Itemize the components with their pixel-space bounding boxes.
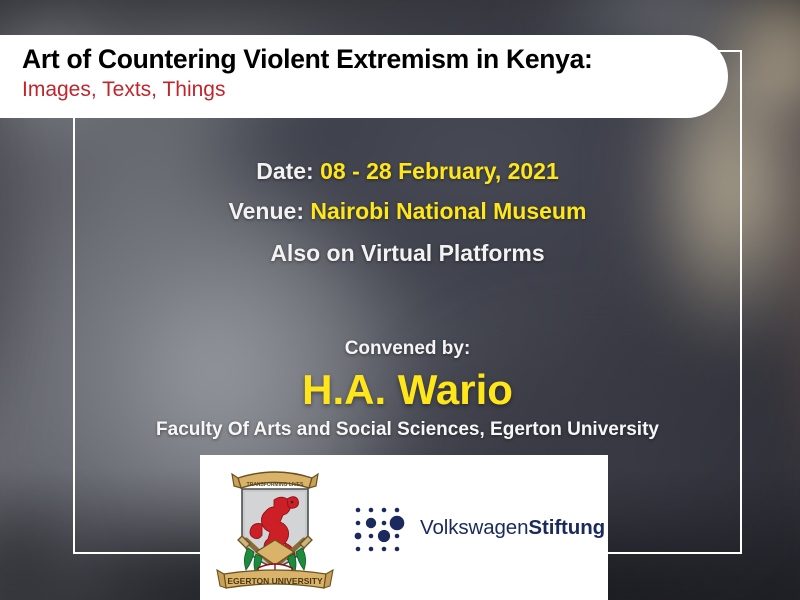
vw-word-bold: Stiftung [528, 516, 605, 539]
volkswagen-dot-grid-icon [350, 502, 406, 554]
volkswagen-stiftung-wordmark: VolkswagenStiftung [420, 516, 605, 540]
vw-word-regular: Volkswagen [420, 516, 528, 539]
date-value: 08 - 28 February, 2021 [320, 158, 559, 184]
page-title: Art of Countering Violent Extremism in K… [22, 44, 728, 75]
date-label: Date: [256, 158, 314, 184]
convener-name: H.A. Wario [73, 366, 742, 413]
event-details: Date: 08 - 28 February, 2021 Venue: Nair… [73, 160, 742, 267]
egerton-university-crest-icon: TRANSFORMING LIVES [200, 458, 350, 598]
convener-affiliation: Faculty Of Arts and Social Sciences, Ege… [73, 419, 742, 441]
convened-by-label: Convened by: [73, 338, 742, 360]
venue-line: Venue: Nairobi National Museum [73, 200, 742, 223]
svg-text:TRANSFORMING LIVES: TRANSFORMING LIVES [247, 482, 304, 488]
date-line: Date: 08 - 28 February, 2021 [73, 160, 742, 183]
page-subtitle: Images, Texts, Things [22, 77, 728, 103]
venue-value: Nairobi National Museum [310, 198, 586, 224]
convener-block: Convened by: H.A. Wario Faculty Of Arts … [73, 338, 742, 441]
crest-banner-text: EGERTON UNIVERSITY [227, 576, 323, 586]
crest-svg: TRANSFORMING LIVES [212, 462, 338, 594]
virtual-platforms-note: Also on Virtual Platforms [73, 240, 742, 267]
title-banner: Art of Countering Violent Extremism in K… [0, 35, 728, 118]
venue-label: Venue: [229, 198, 304, 224]
logo-panel: TRANSFORMING LIVES [200, 455, 608, 600]
volkswagen-stiftung-logo: VolkswagenStiftung [350, 502, 605, 554]
poster-canvas: Art of Countering Violent Extremism in K… [0, 0, 800, 600]
